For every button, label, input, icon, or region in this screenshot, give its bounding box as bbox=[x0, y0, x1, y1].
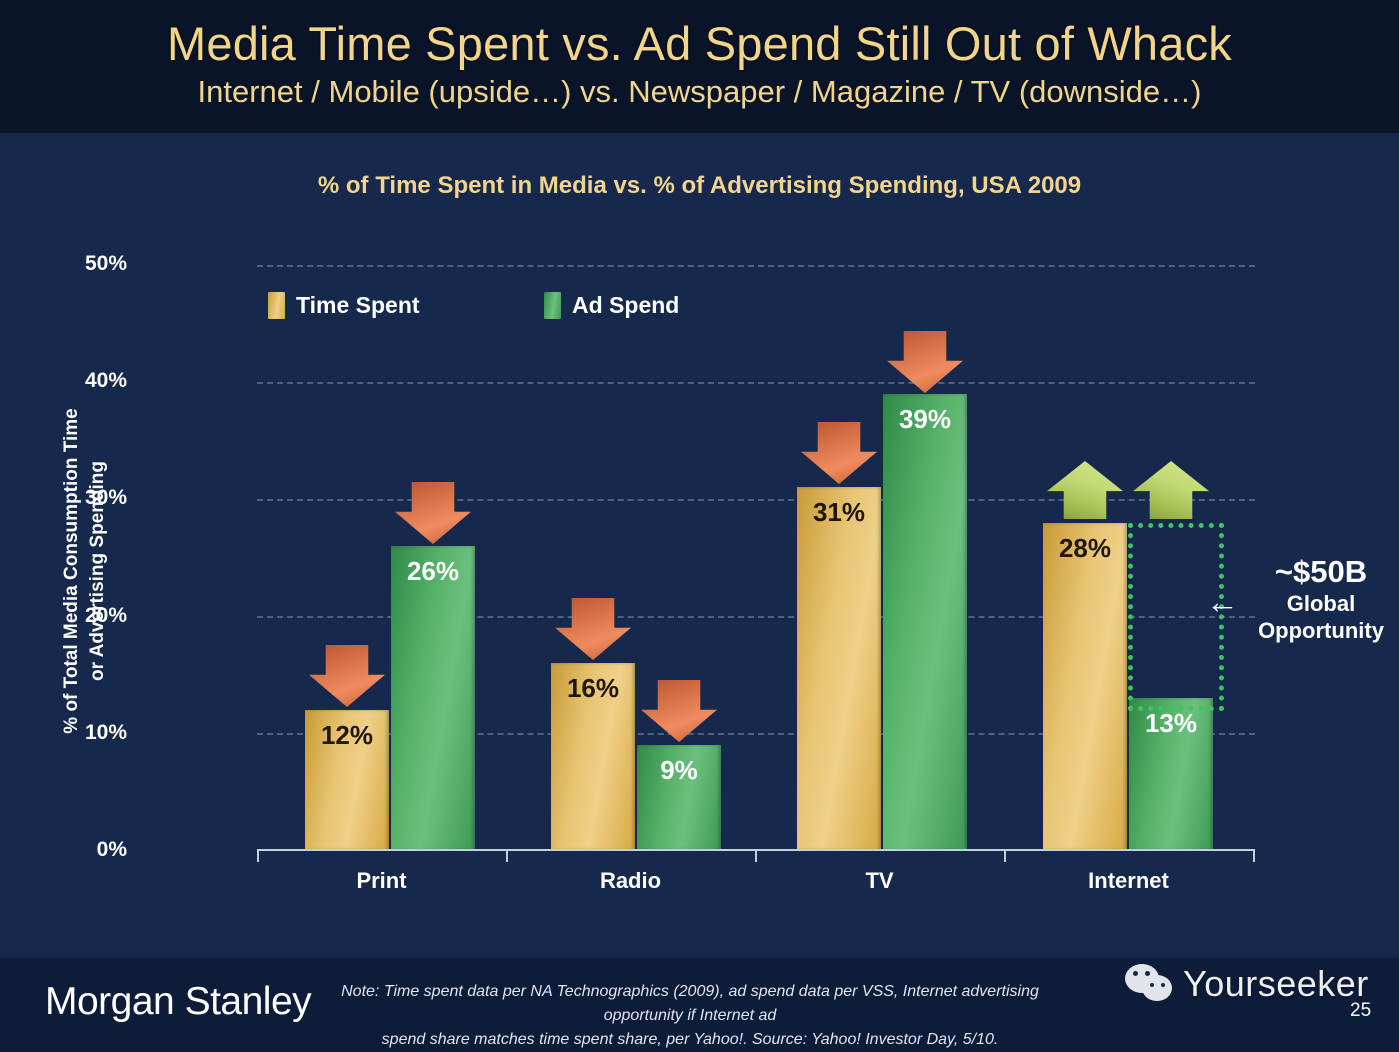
x-tick-0 bbox=[257, 849, 259, 862]
y-axis-label: % of Total Media Consumption Time or Adv… bbox=[59, 271, 111, 871]
down-arrow-tv-time-spent bbox=[801, 422, 877, 484]
bar-tv-time-spent[interactable]: 31% bbox=[797, 487, 881, 850]
x-label-print: Print bbox=[257, 868, 506, 894]
opportunity-line2: Global bbox=[1243, 590, 1399, 617]
x-label-tv: TV bbox=[755, 868, 1004, 894]
bar-value-print-ad-spend: 26% bbox=[391, 556, 475, 587]
gridline-50 bbox=[257, 265, 1255, 267]
legend-item-time-spent[interactable]: Time Spent bbox=[268, 292, 420, 319]
x-tick-1 bbox=[506, 849, 508, 862]
down-arrow-print-ad-spend bbox=[395, 482, 471, 544]
legend-item-ad-spend[interactable]: Ad Spend bbox=[544, 292, 679, 319]
legend-swatch-ad-spend bbox=[544, 292, 561, 319]
slide: Media Time Spent vs. Ad Spend Still Out … bbox=[0, 0, 1399, 1052]
legend-swatch-time-spent bbox=[268, 292, 285, 319]
page-subtitle: Internet / Mobile (upside…) vs. Newspape… bbox=[0, 74, 1399, 110]
watermark-text: Yourseeker bbox=[1183, 963, 1369, 1005]
x-label-internet: Internet bbox=[1004, 868, 1253, 894]
bar-value-radio-ad-spend: 9% bbox=[637, 755, 721, 786]
x-label-radio: Radio bbox=[506, 868, 755, 894]
down-arrow-radio-time-spent bbox=[555, 598, 631, 660]
legend-label-ad-spend: Ad Spend bbox=[572, 292, 679, 319]
y-tick-30: 30% bbox=[7, 486, 127, 510]
y-axis-label-line2: or Advertising Spending bbox=[85, 271, 111, 871]
y-tick-10: 10% bbox=[7, 721, 127, 745]
plot-area: 12% 26% 16% 9% 31% 39% 28% 13% bbox=[257, 265, 1255, 850]
footnote-line2: spend share matches time spent share, pe… bbox=[300, 1028, 1080, 1052]
bar-value-tv-time-spent: 31% bbox=[797, 497, 881, 528]
y-tick-0: 0% bbox=[7, 838, 127, 862]
opportunity-amount: ~$50B bbox=[1243, 554, 1399, 590]
y-tick-40: 40% bbox=[7, 369, 127, 393]
morgan-stanley-logo: Morgan Stanley bbox=[45, 980, 311, 1024]
y-axis-label-line1: % of Total Media Consumption Time bbox=[59, 271, 85, 871]
bar-print-ad-spend[interactable]: 26% bbox=[391, 546, 475, 850]
down-arrow-radio-ad-spend bbox=[641, 680, 717, 742]
wechat-icon bbox=[1125, 962, 1177, 1006]
opportunity-callout: ~$50B Global Opportunity bbox=[1243, 554, 1399, 644]
up-arrow-internet-ad-spend bbox=[1133, 461, 1209, 519]
down-arrow-tv-ad-spend bbox=[887, 331, 963, 393]
down-arrow-print-time-spent bbox=[309, 645, 385, 707]
footnote-line1: Note: Time spent data per NA Technograph… bbox=[300, 980, 1080, 1028]
bar-radio-ad-spend[interactable]: 9% bbox=[637, 745, 721, 850]
y-tick-20: 20% bbox=[7, 604, 127, 628]
bar-value-internet-ad-spend: 13% bbox=[1129, 708, 1213, 739]
bar-value-radio-time-spent: 16% bbox=[551, 673, 635, 704]
y-tick-50: 50% bbox=[7, 252, 127, 276]
slide-header: Media Time Spent vs. Ad Spend Still Out … bbox=[0, 0, 1399, 133]
bar-value-tv-ad-spend: 39% bbox=[883, 404, 967, 435]
bar-tv-ad-spend[interactable]: 39% bbox=[883, 394, 967, 850]
opportunity-callout-arrow: ← bbox=[1206, 585, 1239, 618]
footnote: Note: Time spent data per NA Technograph… bbox=[300, 980, 1080, 1052]
page-title: Media Time Spent vs. Ad Spend Still Out … bbox=[0, 16, 1399, 71]
bar-print-time-spent[interactable]: 12% bbox=[305, 710, 389, 850]
watermark: Yourseeker bbox=[1125, 962, 1369, 1006]
chart-title: % of Time Spent in Media vs. % of Advert… bbox=[0, 172, 1399, 200]
x-tick-3 bbox=[1004, 849, 1006, 862]
up-arrow-internet-time-spent bbox=[1047, 461, 1123, 519]
x-tick-4 bbox=[1253, 849, 1255, 862]
legend-label-time-spent: Time Spent bbox=[296, 292, 420, 319]
opportunity-line3: Opportunity bbox=[1243, 617, 1399, 644]
bar-value-print-time-spent: 12% bbox=[305, 720, 389, 751]
x-tick-2 bbox=[755, 849, 757, 862]
bar-radio-time-spent[interactable]: 16% bbox=[551, 663, 635, 850]
gridline-40 bbox=[257, 382, 1255, 384]
bar-internet-ad-spend[interactable]: 13% bbox=[1129, 698, 1213, 850]
bar-internet-time-spent[interactable]: 28% bbox=[1043, 523, 1127, 850]
bar-value-internet-time-spent: 28% bbox=[1043, 533, 1127, 564]
